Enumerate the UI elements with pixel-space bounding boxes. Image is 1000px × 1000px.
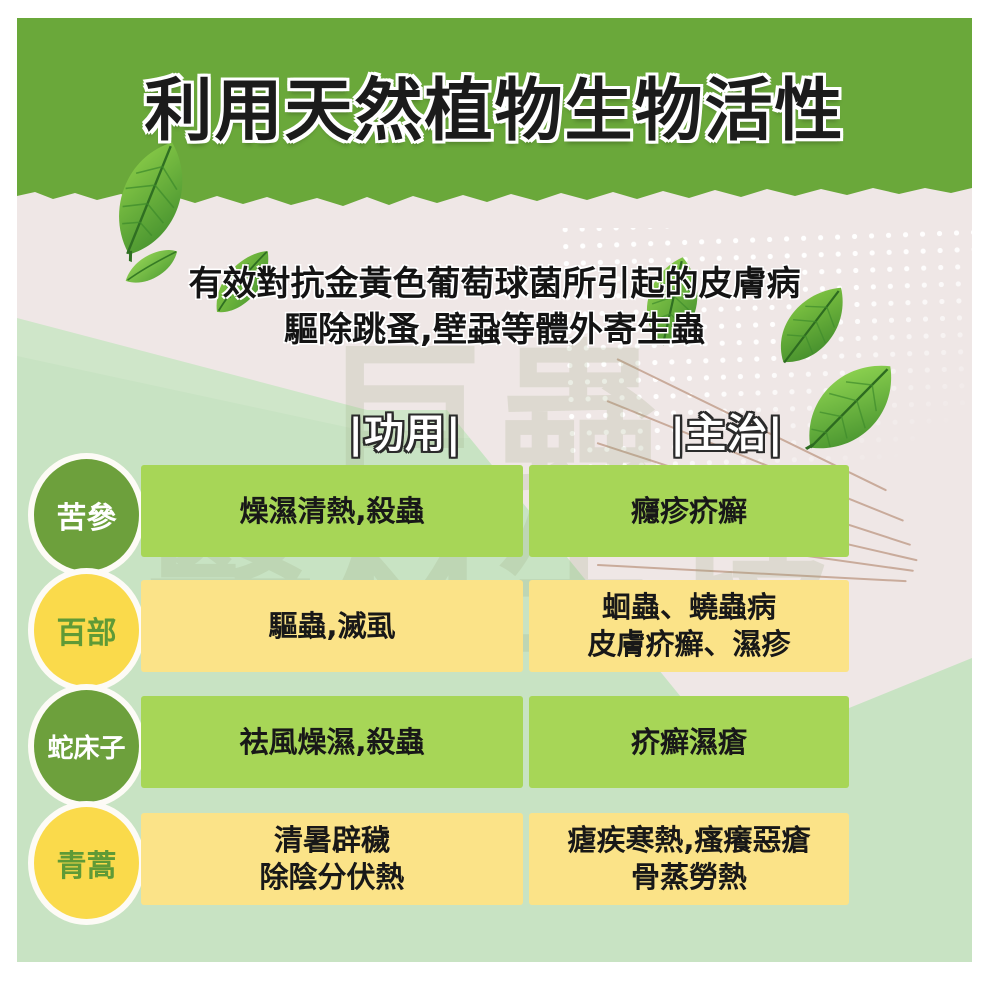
cell-function: 驅蟲,滅虱 (141, 580, 523, 672)
cell-function-text: 祛風燥濕,殺蟲 (239, 724, 424, 761)
cell-function: 祛風燥濕,殺蟲 (141, 696, 523, 788)
cell-function-line-1: 清暑辟穢 (259, 822, 404, 859)
cell-treats: 疥癬濕瘡 (529, 696, 849, 788)
herb-name: 蛇床子 (47, 728, 125, 765)
cell-function: 燥濕清熱,殺蟲 (141, 465, 523, 557)
cell-treats-text: 疥癬濕瘡 (631, 724, 747, 761)
herb-name: 百部 (57, 608, 117, 652)
cell-treats-text: 蛔蟲、蟯蟲病 皮膚疥癬、濕疹 (587, 589, 790, 663)
herb-badge[interactable]: 苦參 (34, 459, 139, 571)
cell-treats-line-2: 皮膚疥癬、濕疹 (587, 626, 790, 663)
cell-function: 清暑辟穢 除陰分伏熱 (141, 813, 523, 905)
cell-treats: 蛔蟲、蟯蟲病 皮膚疥癬、濕疹 (529, 580, 849, 672)
table-body: 苦參 燥濕清熱,殺蟲 癮疹疥癬 百部 驅蟲,滅虱 (17, 18, 972, 962)
table-row[interactable]: 蛇床子 祛風燥濕,殺蟲 疥癬濕瘡 (17, 696, 972, 788)
cell-function-text: 燥濕清熱,殺蟲 (239, 493, 424, 530)
bottom-white-strip (0, 962, 1000, 1000)
cell-treats-line-1: 蛔蟲、蟯蟲病 (587, 589, 790, 626)
herb-badge[interactable]: 青蒿 (34, 807, 139, 919)
cell-treats: 瘧疾寒熱,瘙癢惡瘡 骨蒸勞熱 (529, 813, 849, 905)
cell-treats-text: 癮疹疥癬 (631, 493, 747, 530)
cell-treats: 癮疹疥癬 (529, 465, 849, 557)
table-row[interactable]: 青蒿 清暑辟穢 除陰分伏熱 瘧疾寒熱,瘙癢惡瘡 骨蒸勞熱 (17, 813, 972, 905)
cell-function-text: 清暑辟穢 除陰分伏熱 (259, 822, 404, 896)
table-row[interactable]: 苦參 燥濕清熱,殺蟲 癮疹疥癬 (17, 465, 972, 557)
poster-card: 巨蟲 醫材生技 利用天然植物生物活性 (17, 18, 972, 962)
table-row[interactable]: 百部 驅蟲,滅虱 蛔蟲、蟯蟲病 皮膚疥癬、濕疹 (17, 580, 972, 672)
cell-treats-line-2: 骨蒸勞熱 (567, 859, 810, 896)
cell-function-text: 驅蟲,滅虱 (268, 608, 395, 645)
cell-treats-text: 瘧疾寒熱,瘙癢惡瘡 骨蒸勞熱 (567, 822, 810, 896)
herb-badge[interactable]: 百部 (34, 574, 139, 686)
cell-treats-line-1: 瘧疾寒熱,瘙癢惡瘡 (567, 822, 810, 859)
cell-function-line-2: 除陰分伏熱 (259, 859, 404, 896)
herb-badge[interactable]: 蛇床子 (34, 690, 139, 802)
poster-root: 巨蟲 醫材生技 利用天然植物生物活性 (0, 0, 1000, 1000)
herb-name: 青蒿 (57, 841, 117, 885)
herb-name: 苦參 (57, 493, 117, 537)
